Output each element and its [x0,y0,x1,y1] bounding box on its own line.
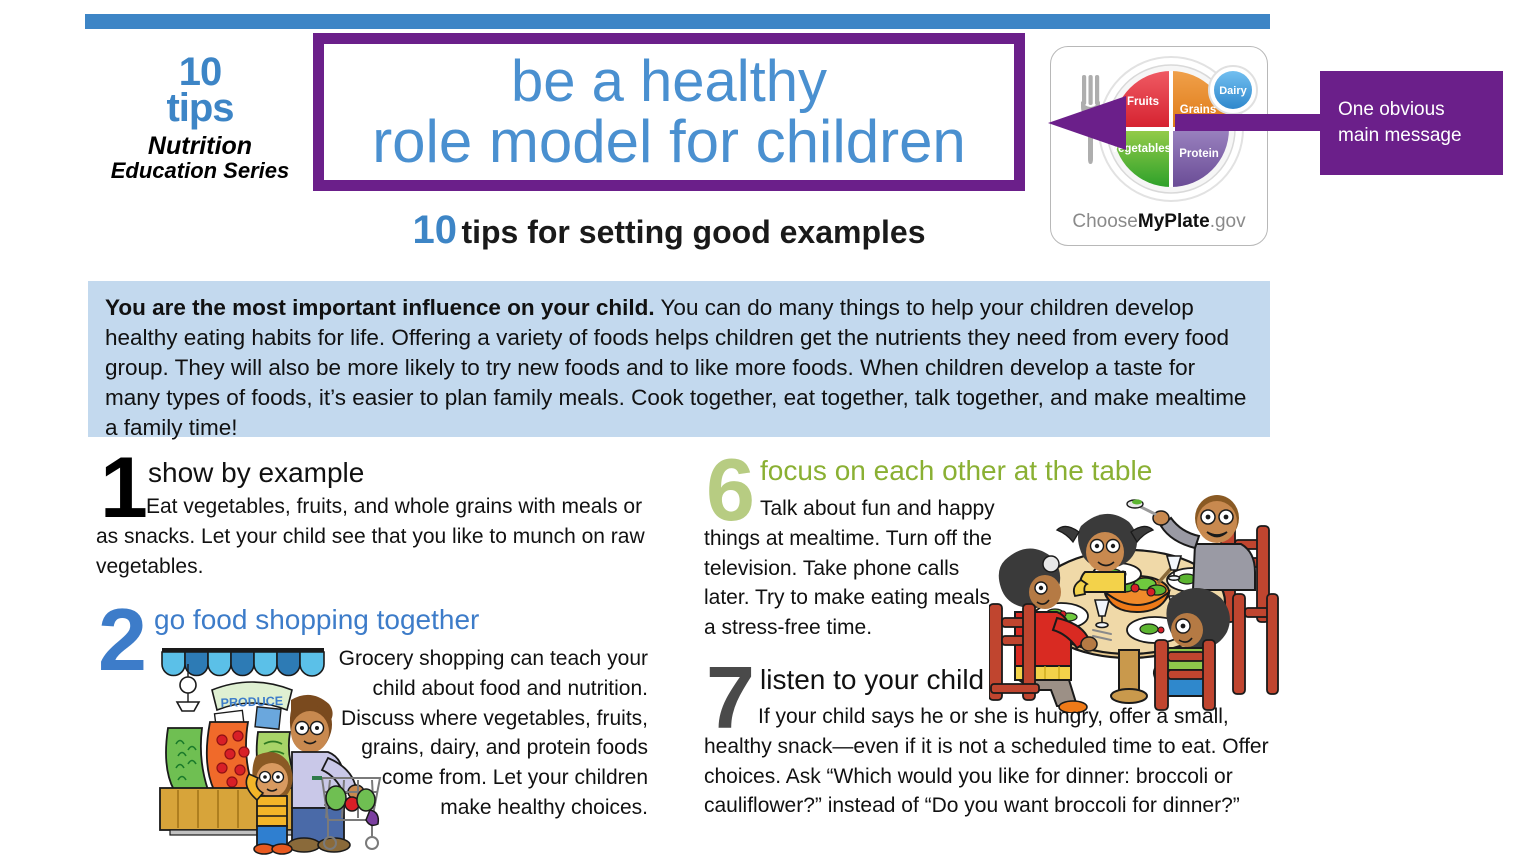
myplate-wordmark: ChooseMyPlate.gov [1051,211,1267,233]
tip-2-heading: go food shopping together [154,604,479,636]
tip-6-heading: focus on each other at the table [760,455,1152,487]
subtitle: 10 tips for setting good examples [313,208,1025,253]
tip-1-body: Eat vegetables, fruits, and whole grains… [96,492,648,581]
wordmark-gov: .gov [1210,211,1246,232]
myplate-label-protein: Protein [1179,148,1219,160]
callout-arrow-stem [1175,114,1323,131]
family-dinner-illustration [989,488,1279,713]
subtitle-number: 10 [412,208,457,252]
myplate-label-dairy: Dairy [1219,85,1247,97]
tip-6-body: Talk about fun and happy things at mealt… [704,494,1004,643]
title-line-2: role model for children [372,111,966,172]
intro-paragraph: You are the most important influence on … [105,293,1248,443]
main-title-box: be a healthy role model for children [313,33,1025,191]
intro-panel: You are the most important influence on … [88,281,1270,437]
tip-7-heading: listen to your child [760,664,984,696]
top-blue-rule [85,14,1270,29]
wordmark-choose: Choose [1072,211,1138,232]
tip-2-body: Grocery shopping can teach your child ab… [96,644,648,840]
masthead: 10 tips Nutrition Education Series [100,52,300,182]
wordmark-myplate: MyPlate [1138,211,1210,232]
annotation-callout: One obvious main message [1320,71,1503,175]
callout-line-2: main message [1338,123,1503,149]
masthead-nutrition: Nutrition [100,134,300,159]
intro-lead: You are the most important influence on … [105,295,655,320]
callout-arrow-head [1048,96,1126,150]
tip-7-body: If your child says he or she is hungry, … [704,702,1270,821]
title-line-1: be a healthy [511,52,827,111]
myplate-label-fruits: Fruits [1127,96,1159,108]
subtitle-tips-word: tips [461,214,518,250]
subtitle-rest: for setting good examples [518,214,925,250]
masthead-tips: tips [100,88,300,128]
tip-1-heading: show by example [148,457,364,489]
callout-line-1: One obvious [1338,97,1503,123]
chair-far-right [1233,594,1278,694]
masthead-education-series: Education Series [100,160,300,182]
